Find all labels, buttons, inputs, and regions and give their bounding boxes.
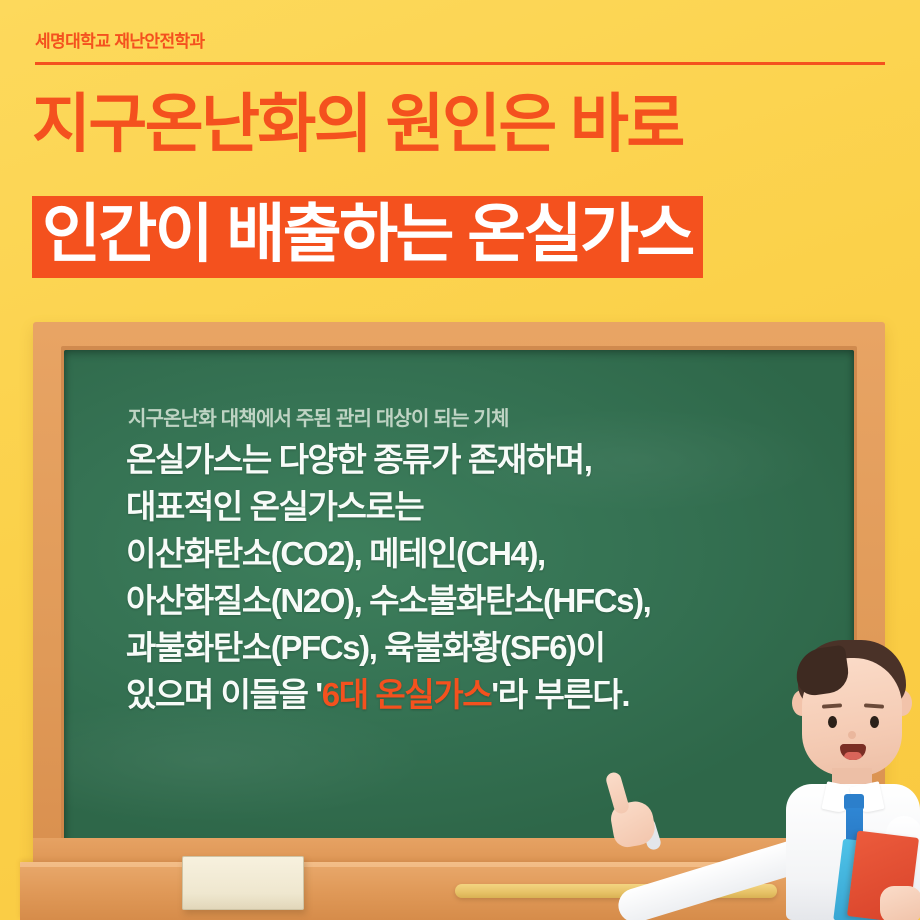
infographic-card: 세명대학교 재난안전학과 지구온난화의 원인은 바로 인간이 배출하는 온실가스… bbox=[0, 0, 920, 920]
eye-left bbox=[828, 716, 837, 728]
department-kicker: 세명대학교 재난안전학과 bbox=[35, 27, 205, 52]
hand-right bbox=[880, 886, 920, 920]
nose bbox=[848, 731, 856, 739]
board-line: 대표적인 온실가스로는 bbox=[126, 483, 650, 530]
index-finger bbox=[605, 771, 631, 816]
tie-knot bbox=[844, 794, 864, 810]
eraser-icon bbox=[182, 856, 304, 910]
board-line: 온실가스는 다양한 종류가 존재하며, bbox=[126, 436, 650, 483]
board-line: 과불화탄소(PFCs), 육불화황(SF6)이 bbox=[126, 624, 650, 671]
last-line-before: 있으며 이들을 ' bbox=[126, 676, 322, 713]
board-subtitle: 지구온난화 대책에서 주된 관리 대상이 되는 기체 bbox=[128, 402, 509, 431]
eye-right bbox=[870, 716, 879, 728]
title-line-1: 지구온난화의 원인은 바로 bbox=[32, 92, 683, 156]
title-line-2-highlight: 인간이 배출하는 온실가스 bbox=[32, 196, 703, 278]
board-line-last: 있으며 이들을 '6대 온실가스'라 부른다. bbox=[126, 671, 650, 718]
tongue bbox=[844, 752, 862, 760]
teacher-character bbox=[600, 636, 920, 920]
board-line: 아산화질소(N2O), 수소불화탄소(HFCs), bbox=[126, 577, 650, 624]
title-line-2: 인간이 배출하는 온실가스 bbox=[42, 202, 693, 266]
header-divider bbox=[35, 62, 885, 65]
board-body-text: 온실가스는 다양한 종류가 존재하며, 대표적인 온실가스로는 이산화탄소(CO… bbox=[126, 436, 650, 718]
six-gases-highlight: 6대 온실가스 bbox=[322, 676, 492, 713]
board-line: 이산화탄소(CO2), 메테인(CH4), bbox=[126, 530, 650, 577]
